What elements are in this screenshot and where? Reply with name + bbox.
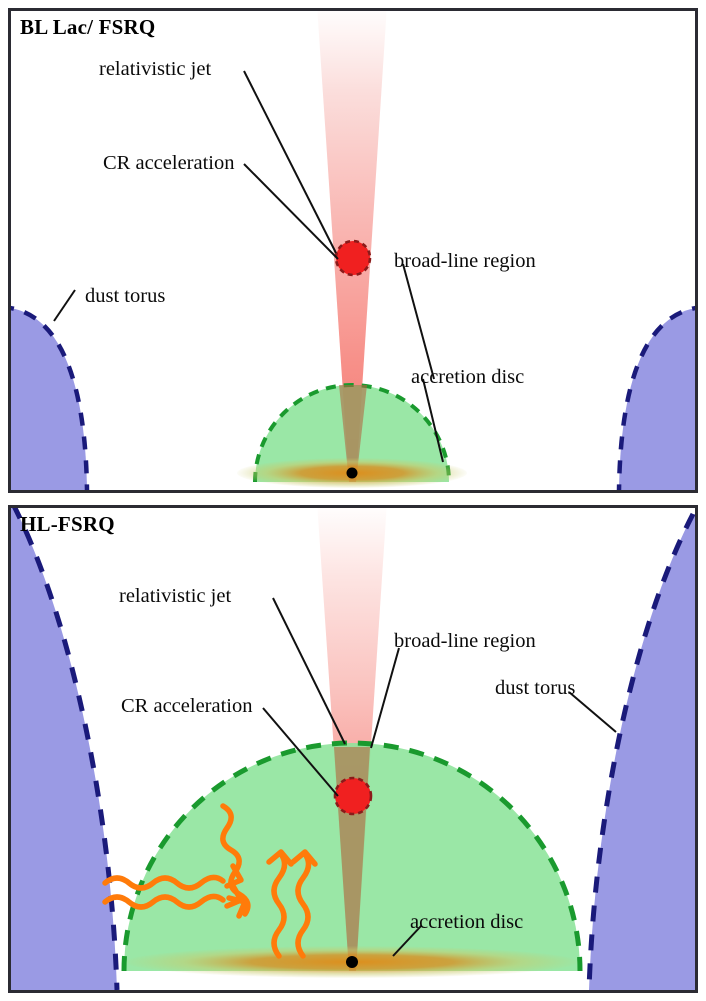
dust-torus-right-fill [589, 514, 695, 990]
label-cr-acceleration: CR acceleration [121, 696, 252, 717]
dust-torus-left-fill [11, 508, 117, 990]
label-relativistic-jet: relativistic jet [99, 59, 211, 80]
panel-bottom-graphics [11, 508, 695, 990]
leader-dust-torus [569, 692, 616, 732]
leader-broad-line-region [403, 264, 434, 379]
cr-acceleration-site [336, 241, 370, 275]
cr-acceleration-site [335, 778, 371, 814]
panel-bl-lac-fsrq: BL Lac/ FSRQ relativistic jet CR acceler… [8, 8, 698, 493]
panel-bottom-title: HL-FSRQ [20, 512, 115, 537]
black-hole [347, 468, 358, 479]
leader-dust-torus [54, 290, 75, 321]
leader-relativistic-jet [244, 71, 336, 253]
label-dust-torus: dust torus [495, 678, 575, 699]
label-relativistic-jet: relativistic jet [119, 586, 231, 607]
black-hole [346, 956, 358, 968]
label-broad-line-region: broad-line region [394, 251, 536, 272]
panel-top-graphics [11, 11, 695, 490]
leader-cr-acceleration [244, 164, 338, 259]
label-accretion-disc: accretion disc [411, 367, 524, 388]
figure-root: BL Lac/ FSRQ relativistic jet CR acceler… [0, 0, 706, 1001]
label-broad-line-region: broad-line region [394, 631, 536, 652]
panel-hl-fsrq: HL-FSRQ relativistic jet CR acceleration… [8, 505, 698, 993]
label-accretion-disc: accretion disc [410, 912, 523, 933]
label-cr-acceleration: CR acceleration [103, 153, 234, 174]
label-dust-torus: dust torus [85, 286, 165, 307]
panel-top-title: BL Lac/ FSRQ [20, 15, 155, 40]
